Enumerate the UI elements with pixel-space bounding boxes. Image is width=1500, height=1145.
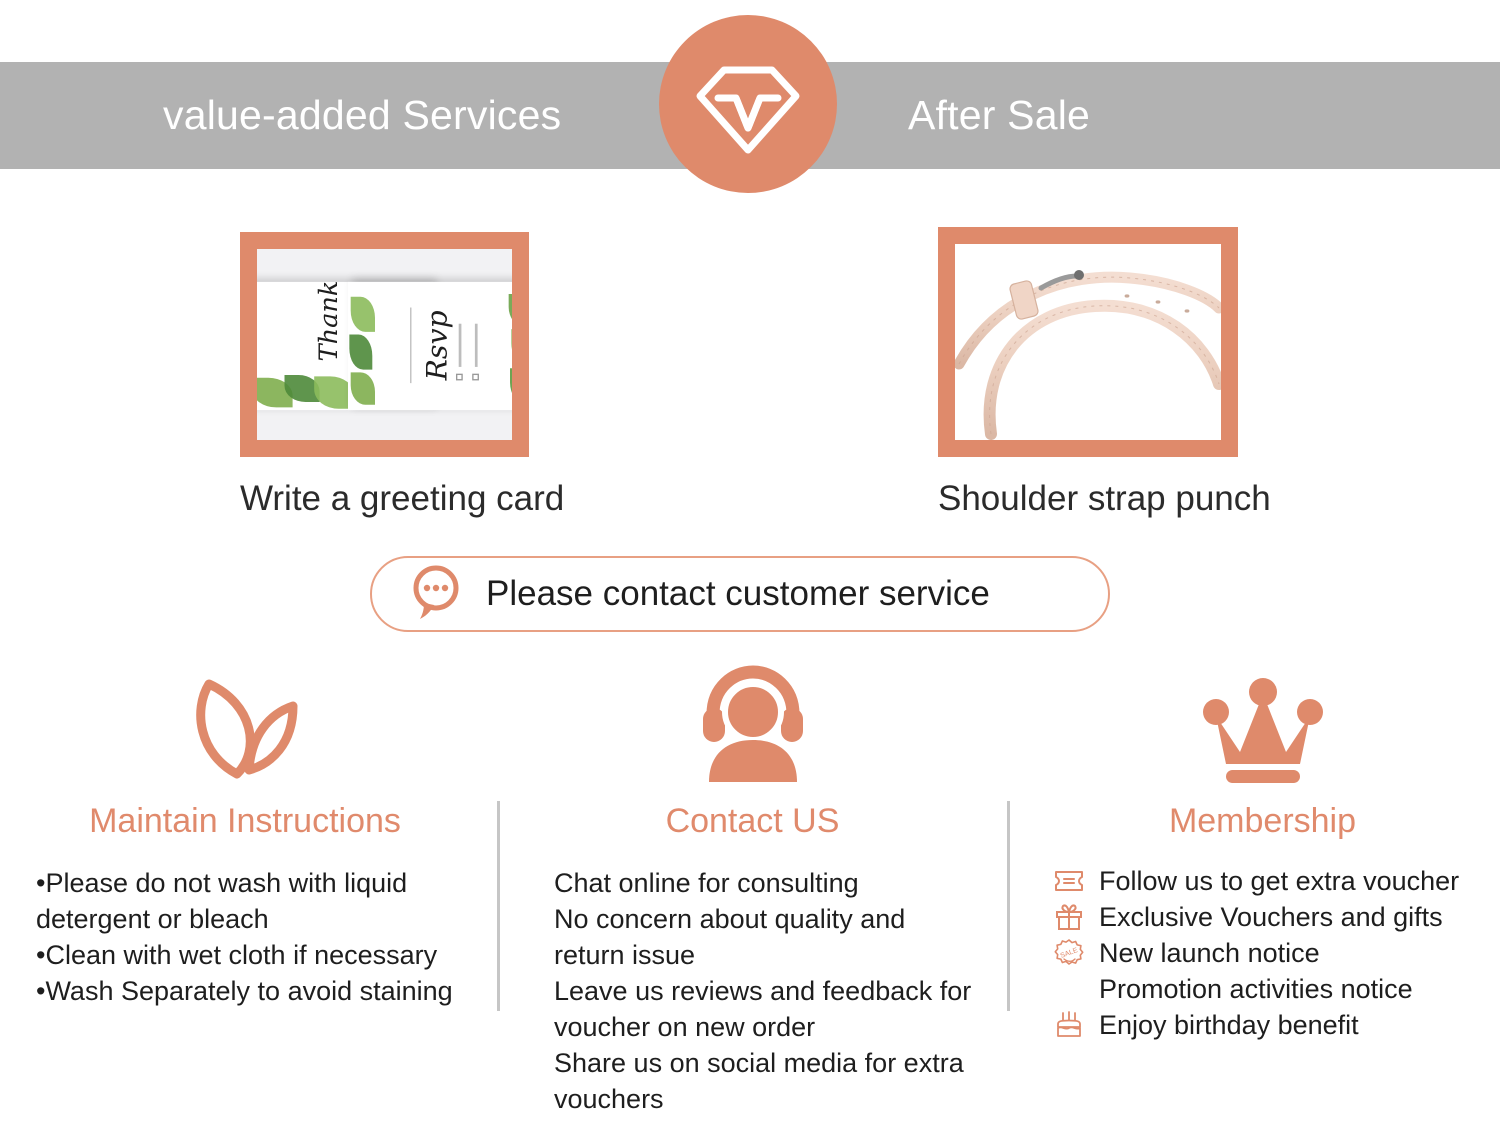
contact-line: Chat online for consulting xyxy=(554,865,980,901)
ticket-icon xyxy=(1051,869,1087,893)
contact-line: Share us on social media for extra xyxy=(554,1045,980,1081)
membership-list: Follow us to get extra voucher Exclusive… xyxy=(1035,863,1490,1043)
membership-label: Exclusive Vouchers and gifts xyxy=(1099,899,1443,935)
shoulder-strap-photo xyxy=(938,227,1238,457)
membership-label: Enjoy birthday benefit xyxy=(1099,1007,1359,1043)
brand-logo xyxy=(659,15,837,193)
svg-text:SALE: SALE xyxy=(1060,947,1080,960)
column-title-maintain: Maintain Instructions xyxy=(20,802,470,841)
contact-us-list: Chat online for consulting No concern ab… xyxy=(525,865,980,1117)
membership-label: Follow us to get extra voucher xyxy=(1099,863,1459,899)
list-item: Follow us to get extra voucher xyxy=(1051,863,1490,899)
diamond-v-logo-icon xyxy=(684,40,812,168)
headset-agent-icon xyxy=(695,664,811,789)
list-item: Promotion activities notice xyxy=(1051,971,1490,1007)
column-divider-1 xyxy=(497,801,500,1011)
contact-line: return issue xyxy=(554,937,980,973)
sale-badge-icon: SALE xyxy=(1051,938,1087,968)
rsvp-text: Rsvp xyxy=(421,310,453,380)
crown-icon-wrap xyxy=(1035,664,1490,789)
maintain-line: •Please do not wash with liquid xyxy=(36,865,470,901)
crown-icon xyxy=(1200,672,1326,789)
contact-line: vouchers xyxy=(554,1081,980,1117)
contact-pill-label: Please contact customer service xyxy=(486,574,990,614)
greeting-card-photo: Thank you Rsvp xyxy=(240,232,529,457)
list-item: SALE New launch notice xyxy=(1051,935,1490,971)
greeting-card-caption: Write a greeting card xyxy=(240,479,529,519)
gift-icon xyxy=(1051,903,1087,931)
birthday-cake-icon xyxy=(1051,1010,1087,1040)
column-contact-us: Contact US Chat online for consulting No… xyxy=(525,664,980,1117)
contact-line: No concern about quality and xyxy=(554,901,980,937)
page-header: value-added Services After Sale xyxy=(0,0,1500,190)
column-title-contact: Contact US xyxy=(525,802,980,841)
maintain-line: •Clean with wet cloth if necessary xyxy=(36,937,470,973)
maintain-instructions-list: •Please do not wash with liquid detergen… xyxy=(20,865,470,1009)
list-item: Enjoy birthday benefit xyxy=(1051,1007,1490,1043)
info-columns: Maintain Instructions •Please do not was… xyxy=(0,664,1500,1145)
column-title-membership: Membership xyxy=(1035,802,1490,841)
membership-label: Promotion activities notice xyxy=(1099,971,1413,1007)
leaf-icon xyxy=(175,666,315,789)
list-item: Exclusive Vouchers and gifts xyxy=(1051,899,1490,935)
maintain-line: detergent or bleach xyxy=(36,901,470,937)
rsvp-card: Rsvp xyxy=(348,282,529,410)
column-membership: Membership Follow us to get extra vouche… xyxy=(1035,664,1490,1043)
header-right-title: After Sale xyxy=(908,62,1090,169)
contact-line: Leave us reviews and feedback for xyxy=(554,973,980,1009)
leaf-icon-wrap xyxy=(20,664,470,789)
maintain-line: •Wash Separately to avoid staining xyxy=(36,973,470,1009)
service-card-greeting: Thank you Rsvp xyxy=(240,232,529,519)
service-card-strap: Shoulder strap punch xyxy=(938,227,1238,519)
shoulder-strap-caption: Shoulder strap punch xyxy=(938,479,1238,519)
contact-customer-service-button[interactable]: Please contact customer service xyxy=(370,556,1110,632)
headset-agent-icon-wrap xyxy=(525,664,980,789)
header-left-title: value-added Services xyxy=(163,62,561,169)
chat-bubble-icon xyxy=(408,563,464,626)
column-divider-2 xyxy=(1007,801,1010,1011)
contact-line: voucher on new order xyxy=(554,1009,980,1045)
column-maintain-instructions: Maintain Instructions •Please do not was… xyxy=(20,664,470,1009)
membership-label: New launch notice xyxy=(1099,935,1320,971)
